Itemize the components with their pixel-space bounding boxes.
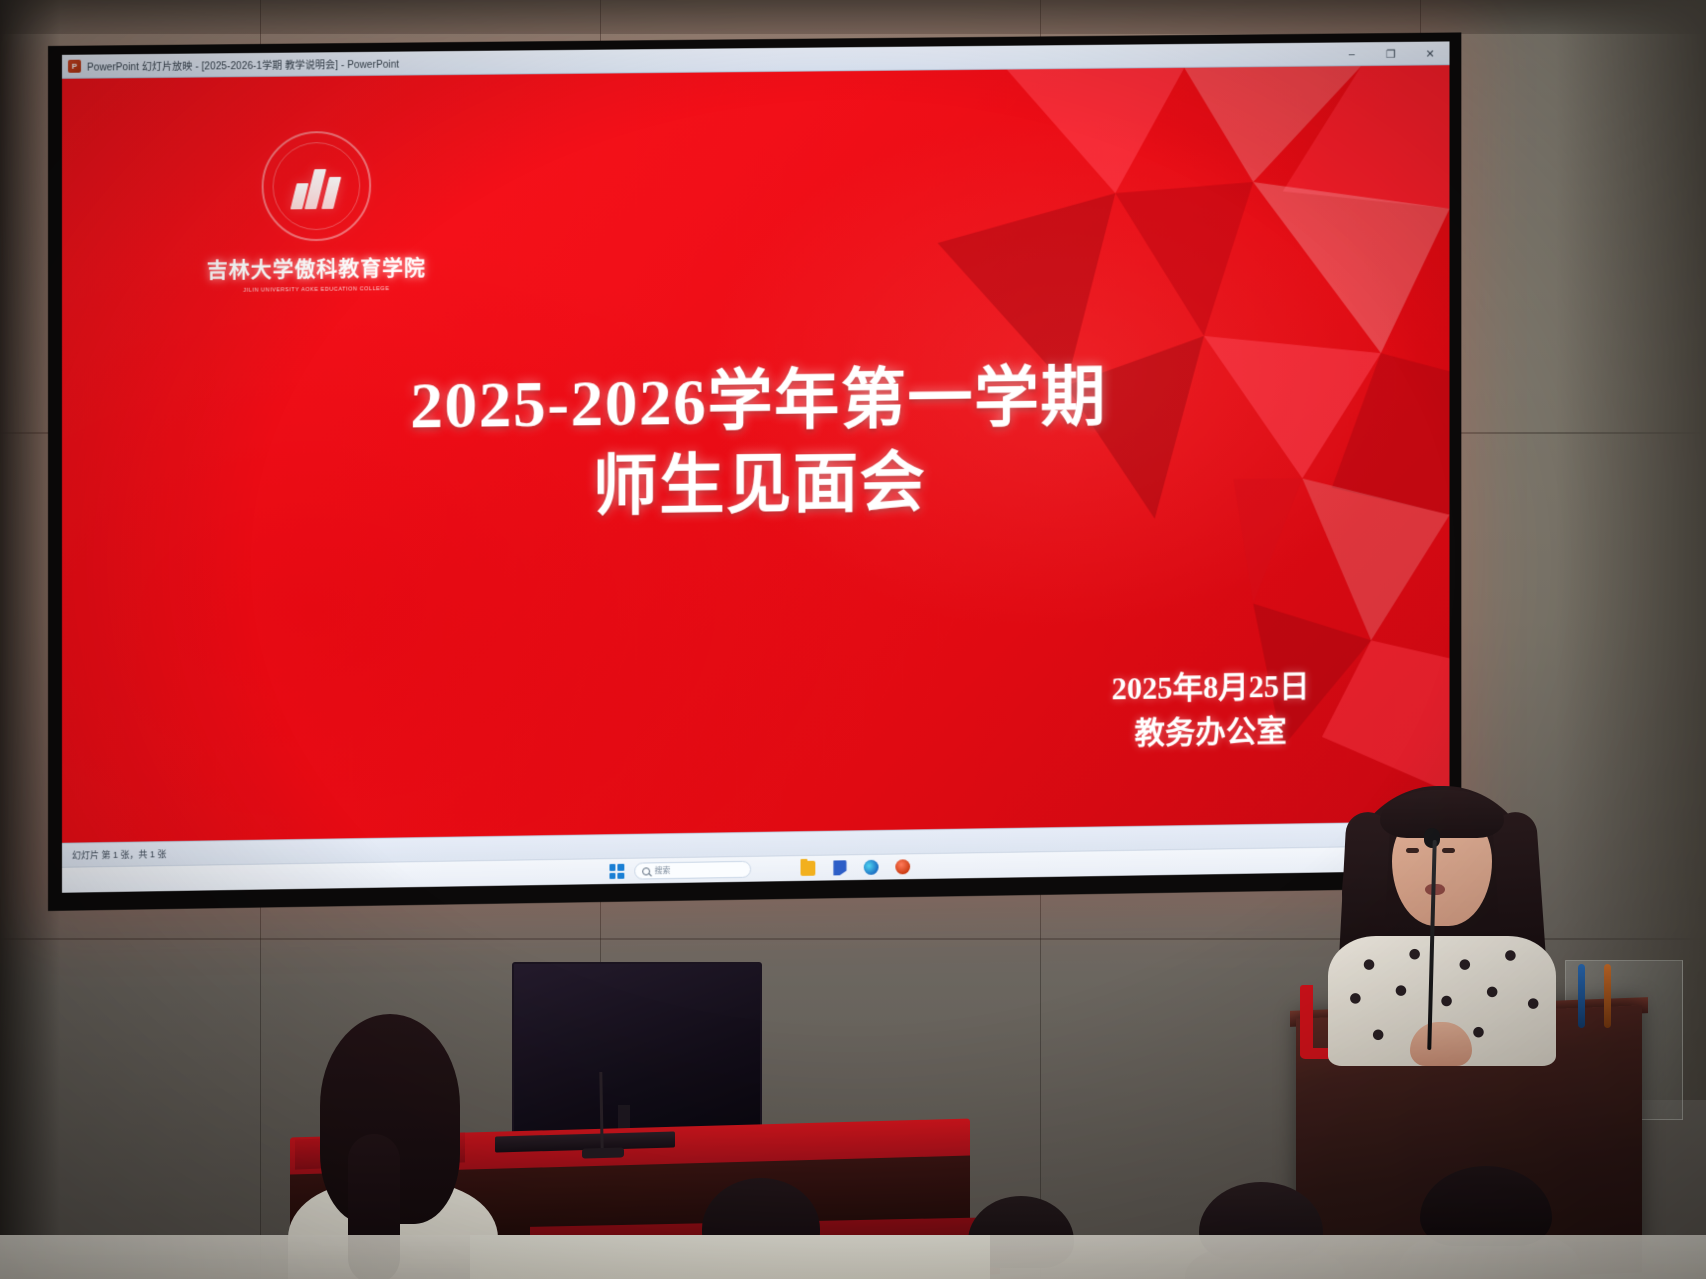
- slide-date: 2025年8月25日: [1112, 665, 1310, 712]
- desk-monitor: [512, 962, 762, 1134]
- presenter-hands: [1410, 1022, 1472, 1066]
- slide-title: 2025-2026学年第一学期 师生见面会: [62, 352, 1450, 536]
- ceiling: [0, 0, 1706, 34]
- university-seal-icon: [262, 131, 372, 242]
- projection-screen: P PowerPoint 幻灯片放映 - [2025-2026-1学期 教学说明…: [48, 32, 1461, 911]
- slide-department: 教务办公室: [1112, 709, 1310, 757]
- edge-icon[interactable]: [863, 860, 878, 875]
- podium-microphone-pair: [1572, 958, 1632, 1028]
- window-controls: – ❐ ✕: [1332, 41, 1450, 66]
- seal-glyph: [293, 163, 341, 209]
- desk-microphone-base: [582, 1147, 624, 1158]
- powerpoint-taskbar-icon[interactable]: [895, 859, 910, 874]
- presenter: [1322, 786, 1562, 1046]
- search-input[interactable]: 搜索: [634, 861, 751, 880]
- taskbar-center-group: 搜索: [609, 858, 910, 880]
- slide-metadata: 2025年8月25日 教务办公室: [1112, 665, 1310, 757]
- search-placeholder: 搜索: [655, 865, 671, 876]
- file-explorer-icon[interactable]: [800, 861, 815, 876]
- search-icon: [642, 867, 650, 875]
- window-title: PowerPoint 幻灯片放映 - [2025-2026-1学期 教学说明会]…: [87, 56, 399, 74]
- slide-counter: 幻灯片 第 1 张，共 1 张: [72, 847, 166, 861]
- close-button[interactable]: ✕: [1410, 41, 1449, 65]
- slide-title-line1: 2025-2026学年第一学期: [410, 361, 1107, 442]
- taskbar-app-icons: [800, 859, 910, 876]
- start-button[interactable]: [609, 864, 624, 879]
- powerpoint-icon: P: [68, 60, 81, 73]
- front-row-seating: [470, 1235, 990, 1279]
- projected-desktop: P PowerPoint 幻灯片放映 - [2025-2026-1学期 教学说明…: [62, 41, 1450, 892]
- wall-shadow-right: [1556, 0, 1706, 1100]
- institution-logo: 吉林大学傲科教育学院 JILIN UNIVERSITY AOKE EDUCATI…: [202, 130, 431, 294]
- minimize-button[interactable]: –: [1332, 42, 1371, 66]
- institution-name: 吉林大学傲科教育学院: [202, 252, 431, 285]
- lecture-hall-photo: P PowerPoint 幻灯片放映 - [2025-2026-1学期 教学说明…: [0, 0, 1706, 1279]
- teams-icon[interactable]: [832, 860, 847, 875]
- slide-canvas[interactable]: 吉林大学傲科教育学院 JILIN UNIVERSITY AOKE EDUCATI…: [62, 65, 1450, 843]
- maximize-button[interactable]: ❐: [1371, 42, 1410, 66]
